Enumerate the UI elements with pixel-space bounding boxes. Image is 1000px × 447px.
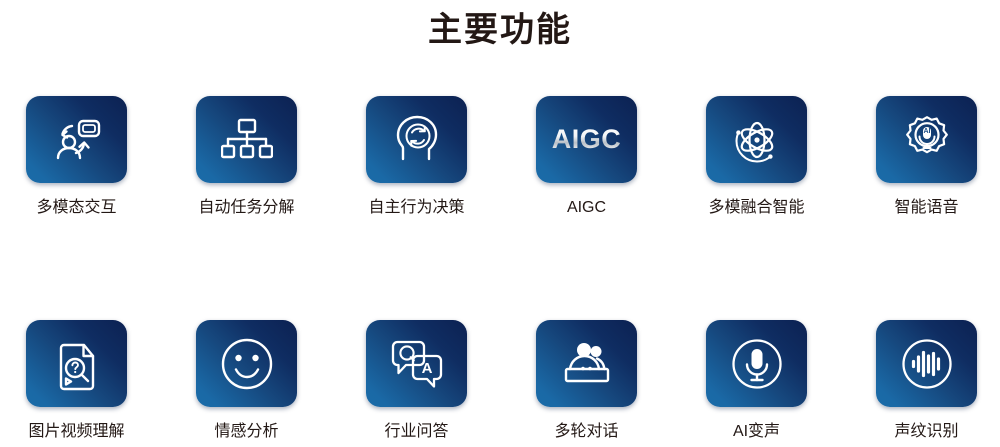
feature-tile[interactable]: AIGC [536, 96, 637, 183]
feature-tile[interactable] [876, 320, 977, 407]
feature-label: 行业问答 [384, 421, 448, 443]
smiley-face-icon [220, 337, 274, 391]
feature-label: 自动任务分解 [198, 197, 294, 219]
feature-cell-multi-turn-dialogue[interactable]: 多轮对话 [536, 320, 637, 443]
multimodal-interaction-icon [50, 116, 104, 164]
feature-tile[interactable] [196, 96, 297, 183]
feature-tile[interactable] [26, 320, 127, 407]
feature-cell-ai-voice-change[interactable]: AI变声 [706, 320, 807, 443]
feature-cell-autonomous-decision[interactable]: 自主行为决策 [366, 96, 467, 219]
feature-label: 多轮对话 [554, 421, 618, 443]
feature-tile[interactable]: AI [876, 96, 977, 183]
feature-cell-image-video-understanding[interactable]: 图片视频理解 [26, 320, 127, 443]
feature-label: AIGC [567, 197, 606, 219]
atom-orbit-icon [730, 114, 784, 166]
feature-tile[interactable] [536, 320, 637, 407]
feature-row: 图片视频理解 情感分析 [0, 320, 1000, 443]
svg-text:AI: AI [923, 128, 930, 135]
document-magnifier-question-icon [53, 337, 101, 391]
feature-tile[interactable] [706, 320, 807, 407]
feature-tile[interactable] [26, 96, 127, 183]
feature-cell-voiceprint-recognition[interactable]: 声纹识别 [876, 320, 977, 443]
feature-cell-smart-voice[interactable]: AI 智能语音 [876, 96, 977, 219]
feature-cell-sentiment-analysis[interactable]: 情感分析 [196, 320, 297, 443]
feature-cell-multimodal-fusion[interactable]: 多模融合智能 [706, 96, 807, 219]
feature-tile[interactable] [706, 96, 807, 183]
feature-row: 多模态交互 自动任务分解 [0, 96, 1000, 219]
feature-tile[interactable] [196, 320, 297, 407]
feature-cell-multimodal-interaction[interactable]: 多模态交互 [26, 96, 127, 219]
voiceprint-waveform-circle-icon [900, 337, 954, 391]
feature-cell-aigc[interactable]: AIGC AIGC [536, 96, 637, 219]
gear-microphone-ai-icon: AI [900, 114, 954, 166]
multi-turn-dialogue-people-icon [559, 341, 615, 387]
feature-label: 情感分析 [214, 421, 278, 443]
feature-cell-industry-qa[interactable]: A 行业问答 [366, 320, 467, 443]
feature-tile[interactable]: A [366, 320, 467, 407]
feature-label: 自主行为决策 [368, 197, 464, 219]
feature-label: 声纹识别 [894, 421, 958, 443]
head-decision-refresh-icon [391, 115, 443, 165]
question-answer-bubbles-icon: A [389, 339, 445, 389]
feature-label: 图片视频理解 [28, 421, 124, 443]
aigc-text-icon: AIGC [552, 126, 622, 153]
feature-label: AI变声 [733, 421, 780, 443]
feature-tile[interactable] [366, 96, 467, 183]
page-title: 主要功能 [0, 6, 1000, 54]
feature-label: 多模融合智能 [708, 197, 804, 219]
microphone-circle-icon [730, 337, 784, 391]
svg-text:A: A [421, 360, 432, 377]
feature-label: 多模态交互 [36, 197, 116, 219]
task-decomposition-tree-icon [221, 117, 273, 163]
feature-grid: 多模态交互 自动任务分解 [0, 96, 1000, 443]
feature-cell-task-decomposition[interactable]: 自动任务分解 [196, 96, 297, 219]
feature-label: 智能语音 [894, 197, 958, 219]
